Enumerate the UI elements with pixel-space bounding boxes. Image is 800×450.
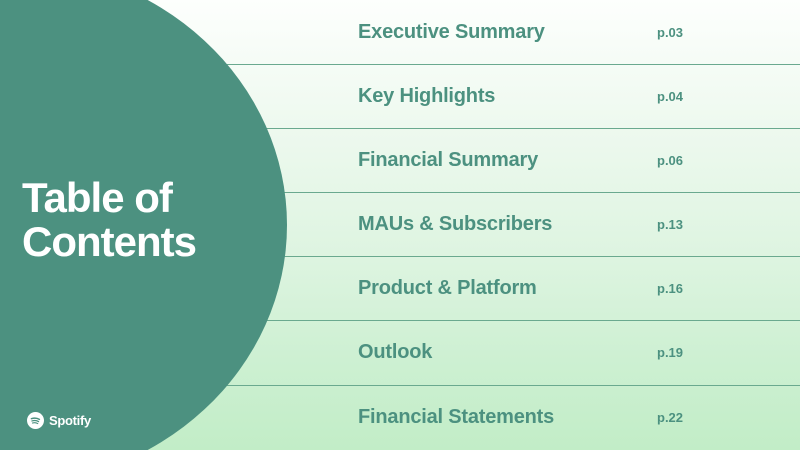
spotify-logo-icon [27, 412, 44, 429]
toc-entry-page: p.19 [657, 345, 683, 360]
toc-entry-page: p.03 [657, 25, 683, 40]
page-title-line-1: Table of [22, 176, 272, 220]
toc-entry-page: p.13 [657, 217, 683, 232]
toc-entry-label: Product & Platform [358, 277, 537, 300]
toc-entry-page: p.22 [657, 410, 683, 425]
brand-wordmark: Spotify [49, 412, 91, 429]
page-title: Table of Contents [22, 176, 272, 264]
toc-entry-label: Financial Summary [358, 149, 538, 172]
toc-entry-label: Key Highlights [358, 85, 495, 108]
toc-entry-page: p.16 [657, 281, 683, 296]
page-title-line-2: Contents [22, 220, 272, 264]
brand-logo: Spotify [27, 412, 91, 429]
toc-entry-page: p.04 [657, 89, 683, 104]
toc-entry-label: Outlook [358, 341, 432, 364]
toc-entry-label: MAUs & Subscribers [358, 213, 552, 236]
toc-entry-label: Financial Statements [358, 406, 554, 429]
toc-entry-page: p.06 [657, 153, 683, 168]
slide-canvas: Executive Summary p.03 Key Highlights p.… [0, 0, 800, 450]
toc-entry-label: Executive Summary [358, 21, 545, 44]
